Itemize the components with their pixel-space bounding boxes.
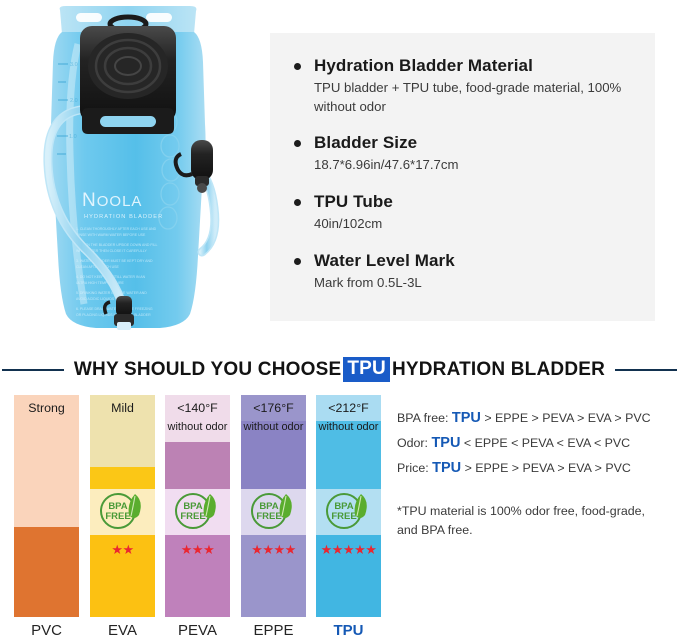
heading-text-before: WHY SHOULD YOU CHOOSE bbox=[74, 359, 341, 380]
spec-item-tpu-tube: TPU Tube 40in/102cm bbox=[292, 191, 637, 234]
bullet-icon bbox=[294, 199, 301, 206]
column-name-eppe: EPPE bbox=[241, 622, 306, 639]
column-temp-label: <212°F bbox=[316, 401, 381, 415]
page-title: WHY SHOULD YOU CHOOSETPUHYDRATION BLADDE… bbox=[74, 358, 605, 383]
product-image-hydration-bladder: 3.0 2.0 1.0 NOOLA HYDRATION BLADDER 1. C… bbox=[18, 4, 256, 330]
column-name-eva: EVA bbox=[90, 622, 155, 639]
svg-text:2.0: 2.0 bbox=[70, 98, 78, 104]
svg-text:FREE: FREE bbox=[256, 511, 281, 522]
ranking-order: > EPPE > PEVA > EVA > PVC bbox=[484, 411, 650, 425]
ranking-label: Price: bbox=[397, 461, 429, 475]
svg-text:3.0: 3.0 bbox=[70, 62, 78, 68]
spec-title: Hydration Bladder Material bbox=[314, 55, 637, 78]
svg-text:AVOID ACIDIC LIQUIDS: AVOID ACIDIC LIQUIDS bbox=[76, 297, 115, 301]
svg-text:FREE: FREE bbox=[331, 511, 356, 522]
ranking-order: > EPPE > PEVA > EVA > PVC bbox=[465, 461, 631, 475]
column-star-rating: ★★ bbox=[90, 543, 155, 556]
svg-text:3. WATER BLADDER MUST BE KEPT: 3. WATER BLADDER MUST BE KEPT DRY AND bbox=[76, 259, 153, 263]
column-bar: Strong bbox=[14, 395, 79, 617]
bpa-free-icon: BPA FREE bbox=[94, 489, 152, 533]
infographic-page: 3.0 2.0 1.0 NOOLA HYDRATION BLADDER 1. C… bbox=[0, 0, 679, 643]
svg-text:5. DRINKING WATER IN PURE WATE: 5. DRINKING WATER IN PURE WATER AND bbox=[76, 291, 147, 295]
heading-text-after: HYDRATION BLADDER bbox=[392, 359, 605, 380]
column-bar: <140°F without odor BPA FREE ★★★ bbox=[165, 395, 230, 617]
column-star-rating: ★★★★ bbox=[241, 543, 306, 556]
cap-outer-ring bbox=[88, 33, 168, 99]
brand-subtitle-text: HYDRATION BLADDER bbox=[84, 214, 163, 220]
spec-description: Mark from 0.5L-3L bbox=[314, 274, 637, 293]
ranking-best-material: TPU bbox=[452, 410, 481, 426]
spec-title: TPU Tube bbox=[314, 191, 637, 214]
material-comparison-chart: Strong PVC Mild BPA FREE bbox=[14, 395, 404, 643]
cap-base-slot bbox=[100, 116, 156, 127]
comparison-column-tpu: <212°F without odor BPA FREE ★★★★★ TPU bbox=[316, 395, 381, 617]
band-strip bbox=[90, 467, 155, 489]
spec-description: TPU bladder + TPU tube, food-grade mater… bbox=[314, 79, 637, 116]
bpa-free-icon: BPA FREE bbox=[245, 489, 303, 533]
svg-text:6. PLEASE DRAIN WATER BEFORE F: 6. PLEASE DRAIN WATER BEFORE FREEZING bbox=[76, 307, 153, 311]
column-star-rating: ★★★ bbox=[165, 543, 230, 556]
spec-description: 40in/102cm bbox=[314, 215, 637, 234]
column-sub-label: without odor bbox=[316, 421, 381, 433]
comparison-column-eppe: <176°F without odor BPA FREE ★★★★ EPPE bbox=[241, 395, 306, 617]
ranking-label: BPA free: bbox=[397, 411, 448, 425]
bottom-valve-tip bbox=[117, 322, 131, 330]
bpa-free-icon: BPA FREE bbox=[320, 489, 378, 533]
ranking-line-price: Price: TPU > EPPE > PEVA > EVA > PVC bbox=[397, 456, 679, 481]
spec-item-bladder-size: Bladder Size 18.7*6.96in/47.6*17.7cm bbox=[292, 132, 637, 175]
specifications-panel: Hydration Bladder Material TPU bladder +… bbox=[270, 33, 655, 321]
band-bottom bbox=[14, 527, 79, 617]
column-name-tpu: TPU bbox=[316, 622, 381, 639]
bullet-icon bbox=[294, 63, 301, 70]
bite-valve-nut bbox=[197, 183, 207, 193]
column-sub-label: without odor bbox=[241, 421, 306, 433]
svg-text:1. CLEAN THOROUGHLY AFTER EACH: 1. CLEAN THOROUGHLY AFTER EACH USE AND bbox=[76, 227, 157, 231]
bite-valve-body bbox=[191, 140, 213, 180]
column-temp-label: <140°F bbox=[165, 401, 230, 415]
spec-item-water-level-mark: Water Level Mark Mark from 0.5L-3L bbox=[292, 250, 637, 293]
column-bar: <212°F without odor BPA FREE ★★★★★ bbox=[316, 395, 381, 617]
comparison-column-pvc: Strong PVC bbox=[14, 395, 79, 617]
bottom-valve-body bbox=[116, 296, 132, 316]
ranking-order: < EPPE < PEVA < EVA < PVC bbox=[464, 436, 630, 450]
ranking-label: Odor: bbox=[397, 436, 428, 450]
ranking-list: BPA free: TPU > EPPE > PEVA > EVA > PVC … bbox=[397, 406, 679, 481]
heading-rule-left bbox=[2, 369, 64, 371]
section-heading: WHY SHOULD YOU CHOOSETPUHYDRATION BLADDE… bbox=[0, 355, 679, 385]
column-sub-label: without odor bbox=[165, 421, 230, 433]
column-star-rating: ★★★★★ bbox=[316, 543, 381, 556]
ranking-line-odor: Odor: TPU < EPPE < PEVA < EVA < PVC bbox=[397, 431, 679, 456]
column-temp-label: <176°F bbox=[241, 401, 306, 415]
bullet-icon bbox=[294, 140, 301, 147]
column-name-pvc: PVC bbox=[14, 622, 79, 639]
bpa-free-icon: BPA FREE bbox=[169, 489, 227, 533]
ranking-best-material: TPU bbox=[431, 435, 460, 451]
bullet-icon bbox=[294, 258, 301, 265]
spec-title: Water Level Mark bbox=[314, 250, 637, 273]
comparison-column-eva: Mild BPA FREE ★★ EVA bbox=[90, 395, 155, 617]
comparison-column-peva: <140°F without odor BPA FREE ★★★ PEVA bbox=[165, 395, 230, 617]
band-strip bbox=[165, 442, 230, 489]
ranking-best-material: TPU bbox=[432, 460, 461, 476]
svg-text:RINSE WITH WARM WATER BEFORE: RINSE WITH WARM WATER BEFORE USE bbox=[76, 233, 146, 237]
footnote-text: *TPU material is 100% odor free, food-gr… bbox=[397, 502, 667, 539]
ranking-line-bpa-free: BPA free: TPU > EPPE > PEVA > EVA > PVC bbox=[397, 406, 679, 431]
hanger-slot-right bbox=[146, 13, 172, 22]
spec-item-material: Hydration Bladder Material TPU bladder +… bbox=[292, 55, 637, 116]
hanger-slot-left bbox=[76, 13, 102, 22]
svg-text:1.0: 1.0 bbox=[69, 134, 77, 140]
heading-rule-right bbox=[615, 369, 677, 371]
heading-tpu-badge: TPU bbox=[343, 357, 390, 382]
svg-text:FREE: FREE bbox=[105, 511, 130, 522]
column-bar: <176°F without odor BPA FREE ★★★★ bbox=[241, 395, 306, 617]
column-odor-label: Mild bbox=[90, 401, 155, 415]
spec-description: 18.7*6.96in/47.6*17.7cm bbox=[314, 156, 637, 175]
spec-title: Bladder Size bbox=[314, 132, 637, 155]
column-bar: Mild BPA FREE ★★ bbox=[90, 395, 155, 617]
column-odor-label: Strong bbox=[14, 401, 79, 415]
svg-text:OR PLACING LIQUIDS INSIDE THE: OR PLACING LIQUIDS INSIDE THE BLADDER bbox=[76, 313, 151, 317]
svg-text:FREE: FREE bbox=[180, 511, 205, 522]
column-name-peva: PEVA bbox=[165, 622, 230, 639]
brand-name-text: NOOLA bbox=[82, 190, 142, 211]
